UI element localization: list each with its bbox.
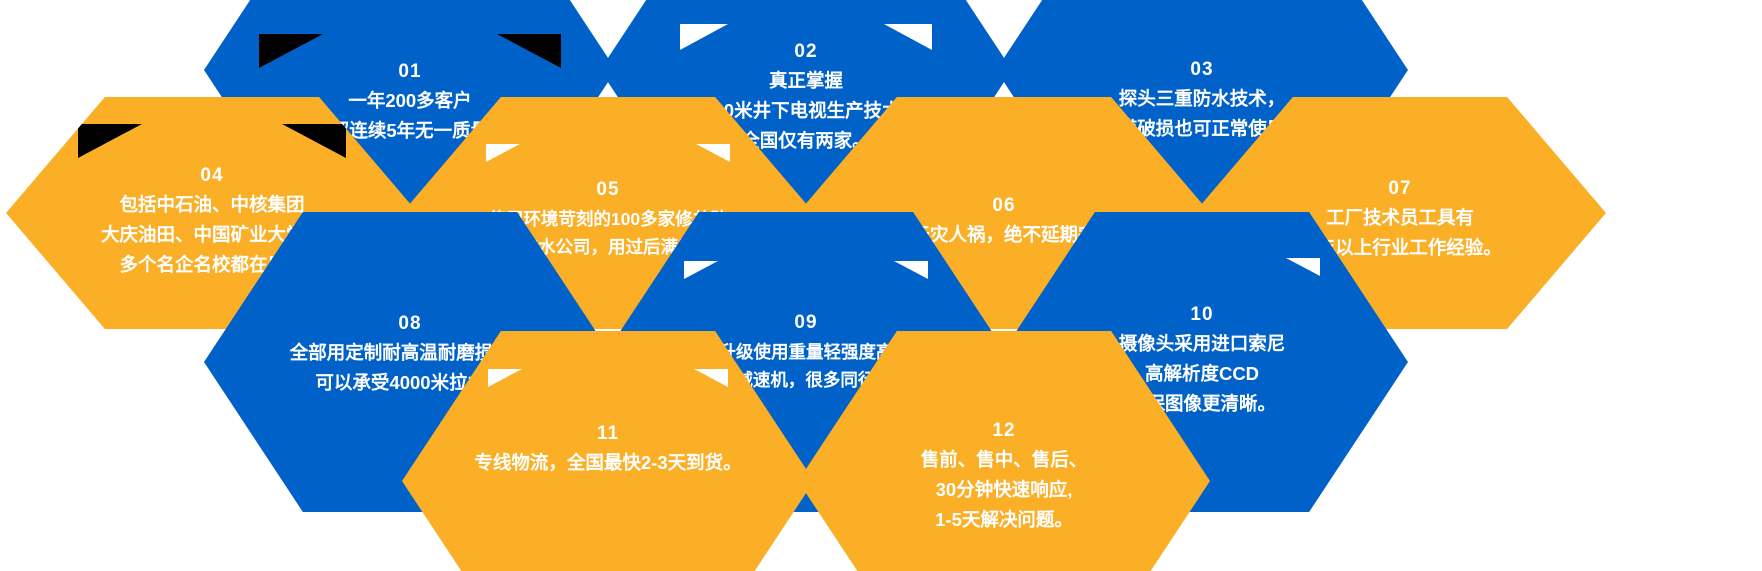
wedge-left-icon xyxy=(488,369,522,387)
hex-number: 03 xyxy=(1022,58,1382,82)
wedge-left-icon xyxy=(78,124,142,158)
wedge-right-icon xyxy=(1286,258,1320,276)
hex-number: 01 xyxy=(230,60,590,84)
wedge-right-icon xyxy=(282,124,346,158)
hex-number: 10 xyxy=(1022,303,1382,327)
wedge-left-icon xyxy=(486,144,520,162)
hex-text: 专线物流，全国最快2-3天到货。 xyxy=(428,448,788,478)
hex-number: 12 xyxy=(824,419,1184,443)
wedge-left-icon xyxy=(684,261,718,279)
hex-number: 02 xyxy=(626,40,986,64)
hex-number: 07 xyxy=(1220,177,1580,201)
wedge-right-icon xyxy=(694,369,728,387)
wedge-right-icon xyxy=(894,261,928,279)
infographic-canvas: 01 一年200多客户 外贸内贸连续5年无一质量投诉。 02 真正掌握 5000… xyxy=(0,0,1762,571)
hex-number: 11 xyxy=(428,422,788,446)
hex-number: 04 xyxy=(32,164,392,188)
hex-text: 售前、售中、售后、 30分钟快速响应, 1-5天解决问题。 xyxy=(824,445,1184,535)
hex-number: 05 xyxy=(428,178,788,202)
wedge-right-icon xyxy=(696,144,730,162)
